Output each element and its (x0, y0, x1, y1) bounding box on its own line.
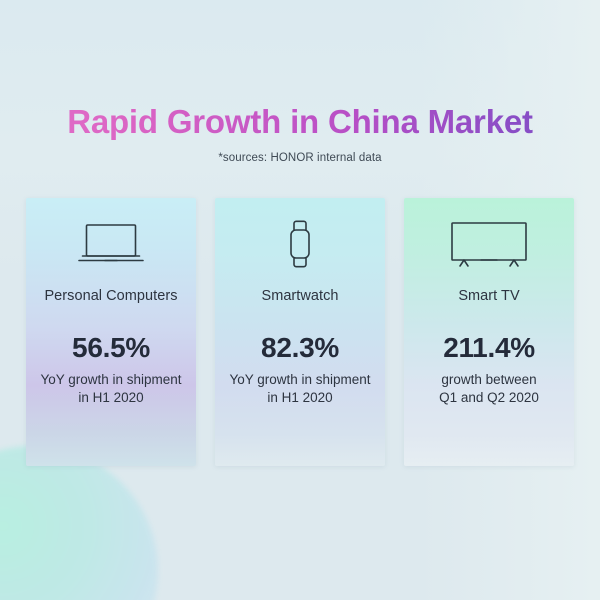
stat-card-description: growth between Q1 and Q2 2020 (434, 371, 544, 407)
stat-card-label: Smartwatch (261, 288, 338, 304)
stat-card-description-line1: YoY growth in shipment (40, 372, 181, 387)
stat-card-label: Smart TV (458, 288, 519, 304)
stat-card-value: 56.5% (72, 332, 150, 364)
stat-card-personal-computers: Personal Computers 56.5% YoY growth in s… (26, 198, 196, 466)
stat-card-description-line1: YoY growth in shipment (229, 372, 370, 387)
stat-card-description: YoY growth in shipment in H1 2020 (35, 371, 186, 407)
stat-card-description-line2: Q1 and Q2 2020 (439, 389, 539, 407)
laptop-icon (26, 198, 196, 290)
smart-tv-icon (404, 198, 574, 290)
stat-card-smartwatch: Smartwatch 82.3% YoY growth in shipment … (215, 198, 385, 466)
stat-card-list: Personal Computers 56.5% YoY growth in s… (26, 198, 574, 466)
stat-card-description-line2: in H1 2020 (40, 389, 181, 407)
stat-card-value: 82.3% (261, 332, 339, 364)
smartwatch-icon (215, 198, 385, 290)
stat-card-description: YoY growth in shipment in H1 2020 (224, 371, 375, 407)
infographic-content: Rapid Growth in China Market *sources: H… (0, 0, 600, 600)
stat-card-description-line2: in H1 2020 (229, 389, 370, 407)
stat-card-description-line1: growth between (441, 372, 536, 387)
source-note: *sources: HONOR internal data (0, 152, 600, 164)
stat-card-value: 211.4% (443, 332, 535, 364)
page-title: Rapid Growth in China Market (0, 103, 600, 141)
stat-card-smart-tv: Smart TV 211.4% growth between Q1 and Q2… (404, 198, 574, 466)
stat-card-label: Personal Computers (44, 288, 177, 304)
